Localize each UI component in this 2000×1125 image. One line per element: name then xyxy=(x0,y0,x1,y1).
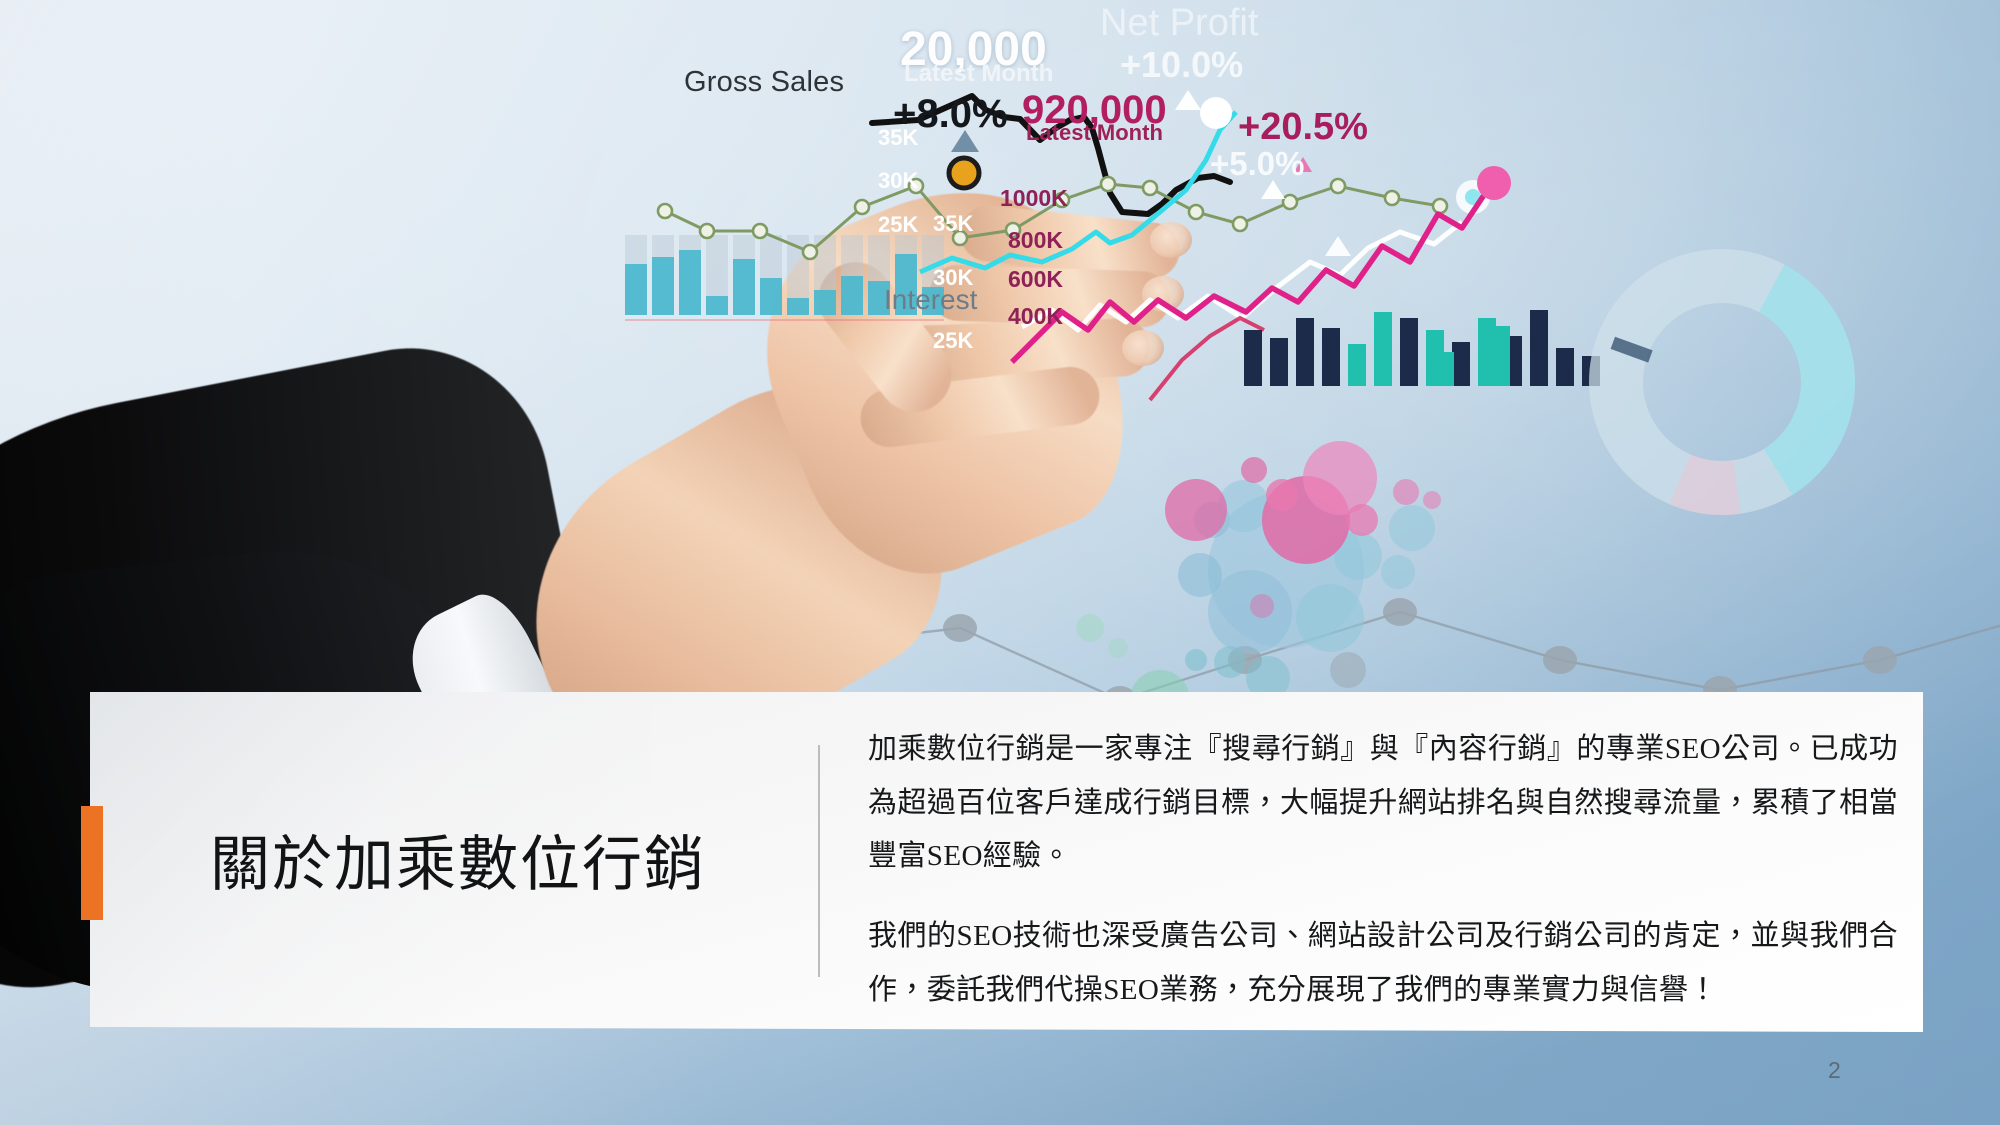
cyan-bar-chart xyxy=(625,235,944,320)
body-paragraph-2: 我們的SEO技術也深受廣告公司、網站設計公司及行銷公司的肯定，並與我們合作，委託… xyxy=(868,910,1898,1017)
page-title: 關於加乘數位行銷 xyxy=(118,806,798,924)
donut-chart xyxy=(1579,239,1866,526)
presentation-slide: Gross Sales Interest 20,000 Latest Month… xyxy=(0,0,2000,1125)
bubble-cluster xyxy=(1076,441,1441,732)
body-paragraph-1: 加乘數位行銷是一家專注『搜尋行銷』與『內容行銷』的專業SEO公司。已成功為超過百… xyxy=(868,723,1898,884)
vertical-divider xyxy=(818,745,820,977)
cyan-endpoint-marker xyxy=(1200,97,1232,129)
pink-endpoint-marker xyxy=(1477,166,1511,200)
orange-endpoint-marker xyxy=(949,158,979,188)
body-text-column: 加乘數位行銷是一家專注『搜尋行銷』與『內容行銷』的專業SEO公司。已成功為超過百… xyxy=(868,723,1898,1017)
slide-number: 2 xyxy=(1828,1057,1841,1084)
navy-teal-bar-chart xyxy=(1244,310,1600,386)
orange-accent-bar xyxy=(81,806,103,920)
